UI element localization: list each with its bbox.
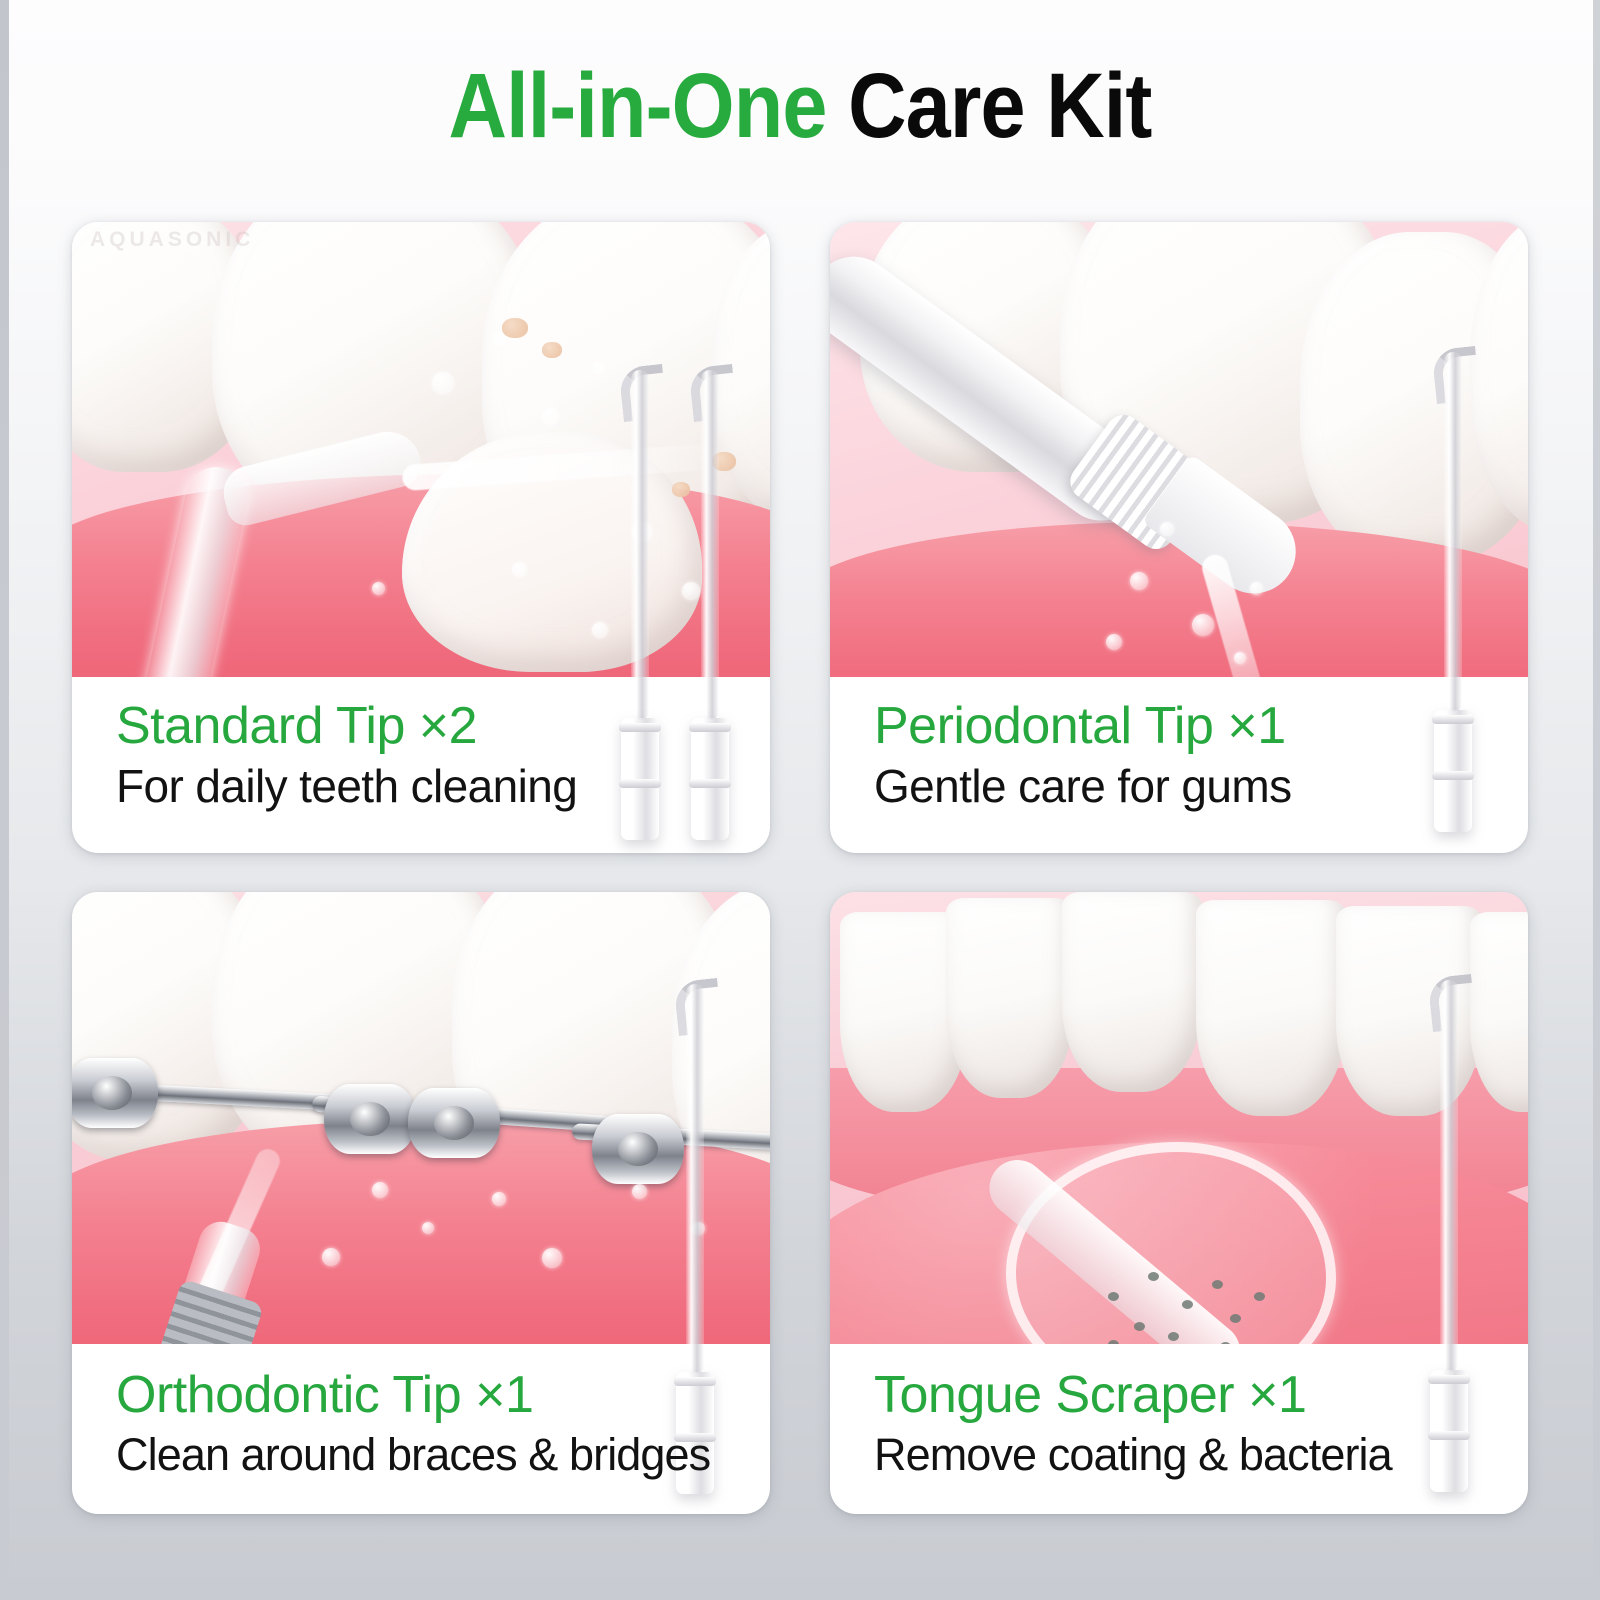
- page-title-black: Care Kit: [848, 55, 1151, 157]
- card-photo-standard-tip: AQUASONIC: [72, 222, 770, 677]
- card-subtitle: For daily teeth cleaning: [116, 757, 770, 815]
- card-photo-tongue-scraper: [830, 892, 1528, 1344]
- scene-orthodontic-tip: [72, 892, 770, 1344]
- brace-bracket: [324, 1084, 416, 1154]
- card-title: Standard Tip ×2: [116, 695, 770, 757]
- page-title-green: All-in-One: [448, 55, 826, 157]
- card-title: Tongue Scraper ×1: [874, 1364, 1528, 1426]
- scene-standard-tip: AQUASONIC: [72, 222, 770, 677]
- brace-bracket: [72, 1058, 158, 1128]
- card-title: Periodontal Tip ×1: [874, 695, 1528, 757]
- card-caption-periodontal-tip: Periodontal Tip ×1 Gentle care for gums: [830, 695, 1528, 815]
- card-caption-standard-tip: Standard Tip ×2 For daily teeth cleaning: [72, 695, 770, 815]
- feature-card-grid: AQUASONIC Standard Tip ×2 For daily teet…: [72, 222, 1528, 1514]
- feature-card-tongue-scraper[interactable]: Tongue Scraper ×1 Remove coating & bacte…: [830, 892, 1528, 1514]
- tooth-shape: [1062, 892, 1202, 1092]
- scene-tongue-scraper: [830, 892, 1528, 1344]
- card-subtitle: Remove coating & bacteria: [874, 1426, 1528, 1484]
- card-title: Orthodontic Tip ×1: [116, 1364, 770, 1426]
- feature-card-periodontal-tip[interactable]: Periodontal Tip ×1 Gentle care for gums: [830, 222, 1528, 853]
- card-subtitle: Gentle care for gums: [874, 757, 1528, 815]
- brace-bracket: [592, 1114, 684, 1184]
- tooth-shape: [946, 898, 1074, 1098]
- card-caption-tongue-scraper: Tongue Scraper ×1 Remove coating & bacte…: [830, 1364, 1528, 1484]
- tooth-shape: [1336, 906, 1482, 1116]
- page-title: All-in-One Care Kit: [96, 52, 1504, 160]
- tongue-scraper-stem: [978, 1149, 1251, 1344]
- scene-periodontal-tip: [830, 222, 1528, 677]
- tooth-shape: [1196, 900, 1346, 1116]
- card-subtitle: Clean around braces & bridges: [116, 1426, 770, 1484]
- card-photo-periodontal-tip: [830, 222, 1528, 677]
- card-caption-orthodontic-tip: Orthodontic Tip ×1 Clean around braces &…: [72, 1364, 770, 1484]
- brand-watermark: AQUASONIC: [90, 228, 254, 252]
- infographic-page: All-in-One Care Kit: [0, 0, 1600, 1600]
- card-photo-orthodontic-tip: [72, 892, 770, 1344]
- feature-card-orthodontic-tip[interactable]: Orthodontic Tip ×1 Clean around braces &…: [72, 892, 770, 1514]
- feature-card-standard-tip[interactable]: AQUASONIC Standard Tip ×2 For daily teet…: [72, 222, 770, 853]
- brace-bracket: [408, 1088, 500, 1158]
